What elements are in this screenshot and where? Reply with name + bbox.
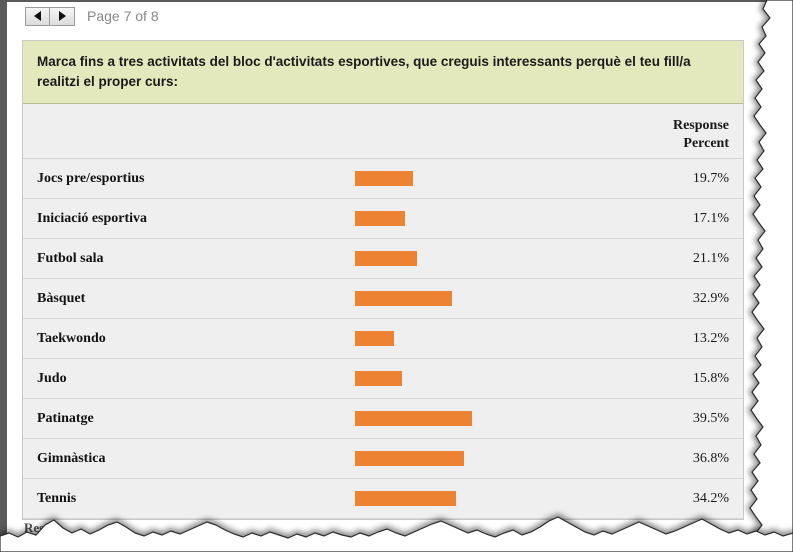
row-bar (355, 171, 413, 186)
table-row: Tennis34.2% (23, 479, 743, 519)
row-bar (355, 451, 464, 466)
row-percent-value: 32.9% (609, 291, 729, 307)
row-label: Judo (37, 371, 355, 387)
row-bar-cell (355, 359, 609, 399)
row-bar (355, 331, 394, 346)
footer-occluded-text: Res or (24, 520, 60, 536)
row-bar (355, 491, 456, 506)
row-bar-cell (355, 199, 609, 239)
row-bar-cell (355, 319, 609, 359)
row-bar (355, 251, 417, 266)
row-label: Tennis (37, 491, 355, 507)
table-column-header-row: Response Percent (23, 104, 743, 159)
row-bar-cell (355, 239, 609, 279)
table-row: Gimnàstica36.8% (23, 439, 743, 479)
row-percent-value: 21.1% (609, 251, 729, 267)
row-percent-value: 17.1% (609, 211, 729, 227)
page-indicator-label: Page 7 of 8 (87, 8, 159, 24)
row-label: Taekwondo (37, 331, 355, 347)
row-bar-cell (355, 159, 609, 199)
row-label: Bàsquet (37, 291, 355, 307)
column-header-response-percent: Response Percent (609, 117, 729, 152)
row-bar-cell (355, 279, 609, 319)
page-frame: Page 7 of 8 Marca fins a tres activitats… (0, 0, 793, 552)
table-row: Bàsquet32.9% (23, 279, 743, 319)
next-page-button[interactable] (50, 7, 75, 26)
pager-toolbar: Page 7 of 8 (25, 5, 159, 27)
row-percent-value: 19.7% (609, 171, 729, 187)
row-bar-cell (355, 439, 609, 479)
row-bar (355, 211, 405, 226)
row-percent-value: 15.8% (609, 371, 729, 387)
triangle-left-icon (34, 11, 41, 21)
row-bar-cell (355, 479, 609, 519)
row-bar (355, 291, 452, 306)
triangle-right-icon (59, 11, 66, 21)
window-border-top (0, 0, 793, 2)
row-label: Iniciació esportiva (37, 211, 355, 227)
table-row: Judo15.8% (23, 359, 743, 399)
table-row: Iniciació esportiva17.1% (23, 199, 743, 239)
column-header-line-2: Percent (609, 135, 729, 153)
row-percent-value: 13.2% (609, 331, 729, 347)
row-bar-cell (355, 399, 609, 439)
row-label: Patinatge (37, 411, 355, 427)
survey-result-table: Marca fins a tres activitats del bloc d'… (22, 40, 744, 520)
column-header-line-1: Response (609, 117, 729, 135)
window-border-left (0, 0, 7, 552)
table-rows-container: Jocs pre/esportius19.7%Iniciació esporti… (23, 159, 743, 519)
question-title: Marca fins a tres activitats del bloc d'… (23, 41, 743, 104)
table-row: Taekwondo13.2% (23, 319, 743, 359)
previous-page-button[interactable] (25, 7, 50, 26)
row-percent-value: 34.2% (609, 491, 729, 507)
row-percent-value: 36.8% (609, 451, 729, 467)
row-label: Futbol sala (37, 251, 355, 267)
row-bar (355, 411, 472, 426)
row-percent-value: 39.5% (609, 411, 729, 427)
table-row: Patinatge39.5% (23, 399, 743, 439)
row-label: Jocs pre/esportius (37, 171, 355, 187)
table-row: Jocs pre/esportius19.7% (23, 159, 743, 199)
row-label: Gimnàstica (37, 451, 355, 467)
table-body: Response Percent Jocs pre/esportius19.7%… (23, 104, 743, 519)
table-row: Futbol sala21.1% (23, 239, 743, 279)
row-bar (355, 371, 402, 386)
